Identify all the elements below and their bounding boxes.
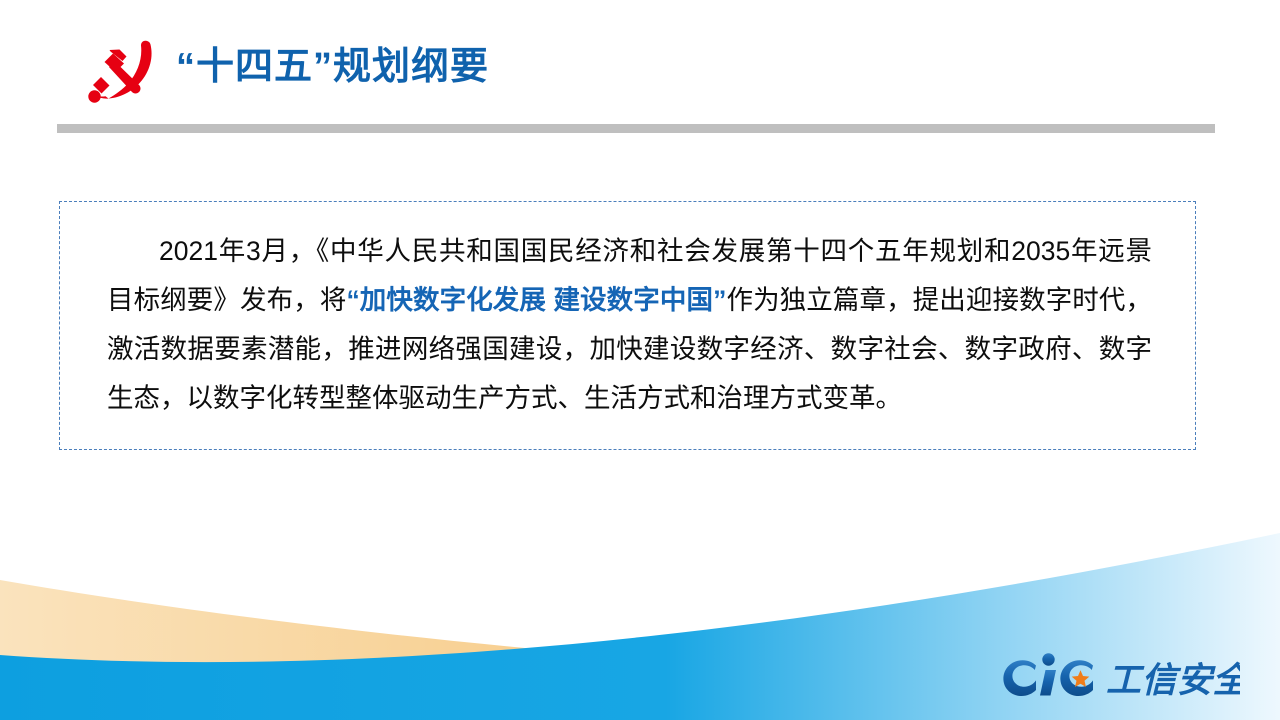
cpc-hammer-sickle-emblem — [84, 39, 158, 109]
orange-star-icon — [1072, 670, 1090, 687]
company-logo: 工信安全 — [1000, 651, 1240, 701]
title-divider — [57, 124, 1215, 133]
page-title: “十四五”规划纲要 — [176, 42, 489, 93]
content-text-box: 2021年3月，《中华人民共和国国民经济和社会发展第十四个五年规划和2035年远… — [59, 201, 1196, 450]
accent-close-quote: ” — [713, 285, 726, 315]
logo-wordmark-text: 工信安全 — [1106, 661, 1240, 700]
slide-canvas: “十四五”规划纲要 2021年3月，《中华人民共和国国民经济和社会发展第十四个五… — [0, 0, 1280, 720]
accent-open-quote: “ — [346, 285, 359, 315]
accent-phrase: 加快数字化发展 建设数字中国 — [360, 285, 713, 315]
slide-header: “十四五”规划纲要 — [0, 0, 1280, 120]
body-paragraph: 2021年3月，《中华人民共和国国民经济和社会发展第十四个五年规划和2035年远… — [107, 227, 1152, 423]
